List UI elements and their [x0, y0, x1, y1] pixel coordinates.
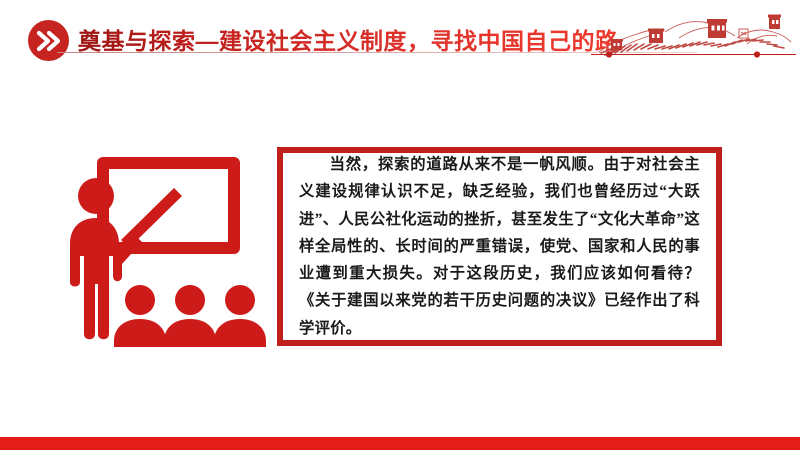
- great-wall-illustration: [591, 8, 796, 64]
- quote-callout-box: 当然，探索的道路从来不是一帆风顺。由于对社会主义建设规律认识不足，缺乏经验，我们…: [277, 147, 722, 346]
- page-title: 奠基与探索—建设社会主义制度，寻找中国自己的路: [78, 22, 619, 56]
- double-chevron-right-icon: [28, 20, 69, 61]
- quote-paragraph: 当然，探索的道路从来不是一帆风顺。由于对社会主义建设规律认识不足，缺乏经验，我们…: [286, 151, 713, 342]
- footer-accent-bar: [0, 437, 800, 450]
- teacher-classroom-icon: [62, 142, 274, 347]
- quote-inner-frame: 当然，探索的道路从来不是一帆风顺。由于对社会主义建设规律认识不足，缺乏经验，我们…: [286, 156, 713, 337]
- slide-header: 奠基与探索—建设社会主义制度，寻找中国自己的路: [0, 0, 800, 70]
